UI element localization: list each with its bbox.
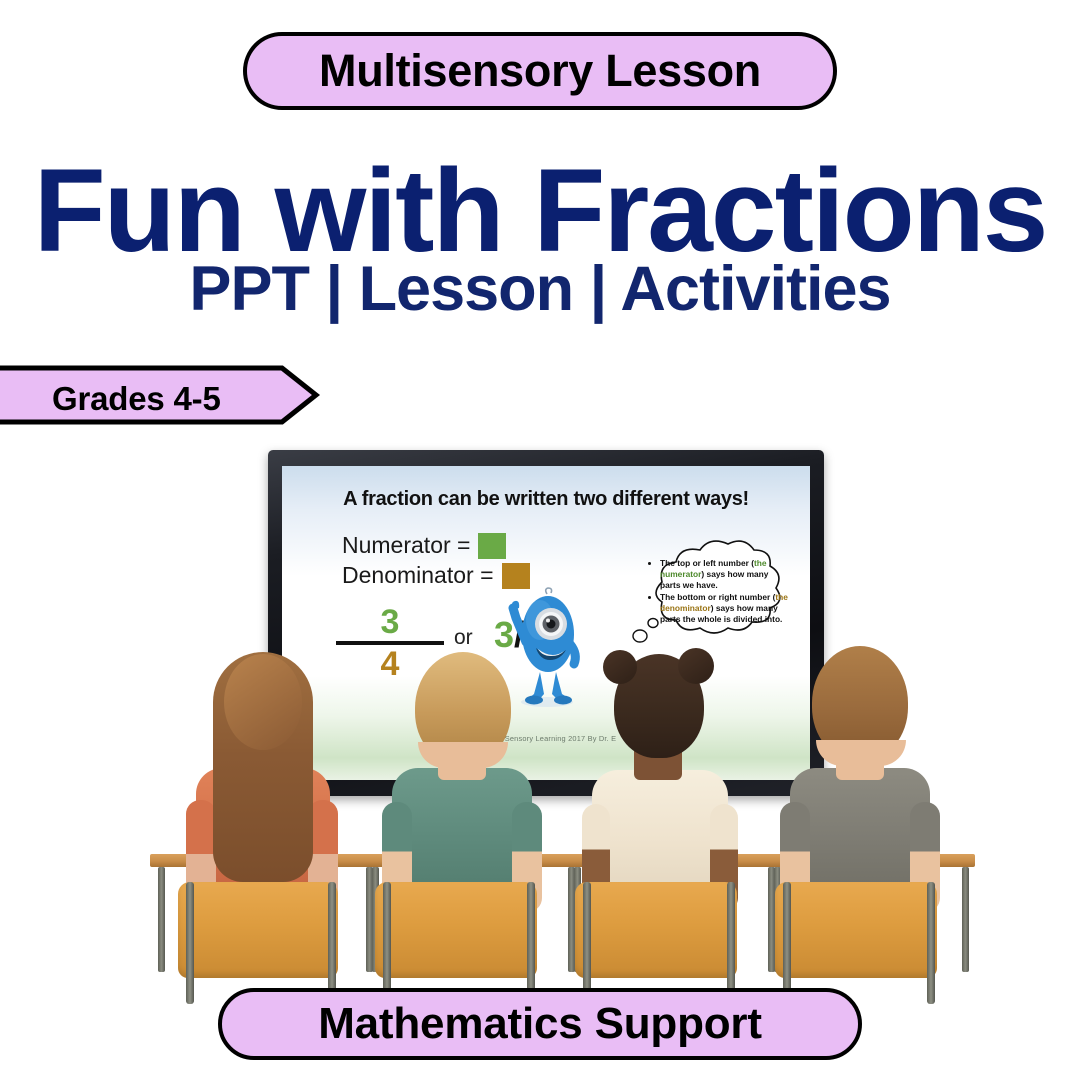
- page-subtitle: PPT | Lesson | Activities: [0, 258, 1080, 321]
- chair-3: [575, 882, 737, 978]
- multisensory-lesson-label: Multisensory Lesson: [319, 45, 761, 97]
- mathematics-support-banner: Mathematics Support: [218, 988, 862, 1060]
- grade-banner-label: Grades 4-5: [52, 380, 272, 418]
- chair-4-seat: [788, 975, 928, 985]
- chair-3-seat: [588, 975, 728, 985]
- blue-monster-mascot-icon: [504, 586, 590, 716]
- chair-2-rail-left: [383, 882, 391, 1004]
- denominator-color-swatch: [502, 563, 530, 589]
- slide-credit-text: © Good Sensory Learning 2017 By Dr. E: [282, 734, 810, 743]
- chair-3-back: [575, 882, 737, 978]
- chair-4-back: [775, 882, 937, 978]
- whiteboard-screen: A fraction can be written two different …: [282, 466, 810, 780]
- chair-4: [775, 882, 937, 978]
- chair-4-rail-left: [783, 882, 791, 1004]
- numerator-row: Numerator =: [342, 532, 506, 559]
- student-1-head: [224, 654, 302, 750]
- chair-3-rail-left: [583, 882, 591, 1004]
- chair-1: [178, 882, 338, 978]
- student-2-nape: [418, 742, 508, 768]
- numerator-color-swatch: [478, 533, 506, 559]
- fraction-numerator: 3: [330, 606, 450, 638]
- multisensory-lesson-banner: Multisensory Lesson: [243, 32, 837, 110]
- classroom-scene: A fraction can be written two different …: [0, 430, 1080, 1000]
- chair-3-rail-right: [727, 882, 735, 1004]
- denominator-label: Denominator =: [342, 562, 494, 589]
- fraction-connector: or: [454, 626, 473, 650]
- chair-4-rail-right: [927, 882, 935, 1004]
- mathematics-support-label: Mathematics Support: [318, 999, 762, 1049]
- student-4-nape: [816, 740, 906, 766]
- thought-bubble-bullet-2: The bottom or right number (the denomina…: [660, 592, 790, 624]
- desk-leg: [158, 867, 165, 972]
- chair-1-rail-left: [186, 882, 194, 1004]
- chair-2: [375, 882, 537, 978]
- page-title: Fun with Fractions: [0, 152, 1080, 270]
- chair-2-back: [375, 882, 537, 978]
- chair-2-seat: [388, 975, 528, 985]
- chair-2-rail-right: [527, 882, 535, 1004]
- student-3-bun-left: [603, 650, 637, 684]
- slide-title: A fraction can be written two different …: [282, 488, 810, 511]
- chair-1-back: [178, 882, 338, 978]
- thought-bubble-bullet-1: The top or left number (the numerator) s…: [660, 558, 790, 590]
- denominator-row: Denominator =: [342, 562, 530, 589]
- chair-1-seat: [190, 975, 330, 985]
- desk-leg: [962, 867, 969, 972]
- student-3-bun-right: [678, 648, 714, 684]
- chair-1-rail-right: [328, 882, 336, 1004]
- thought-bubble-text: The top or left number (the numerator) s…: [650, 558, 790, 627]
- whiteboard-bezel: A fraction can be written two different …: [268, 450, 824, 796]
- numerator-label: Numerator =: [342, 532, 470, 559]
